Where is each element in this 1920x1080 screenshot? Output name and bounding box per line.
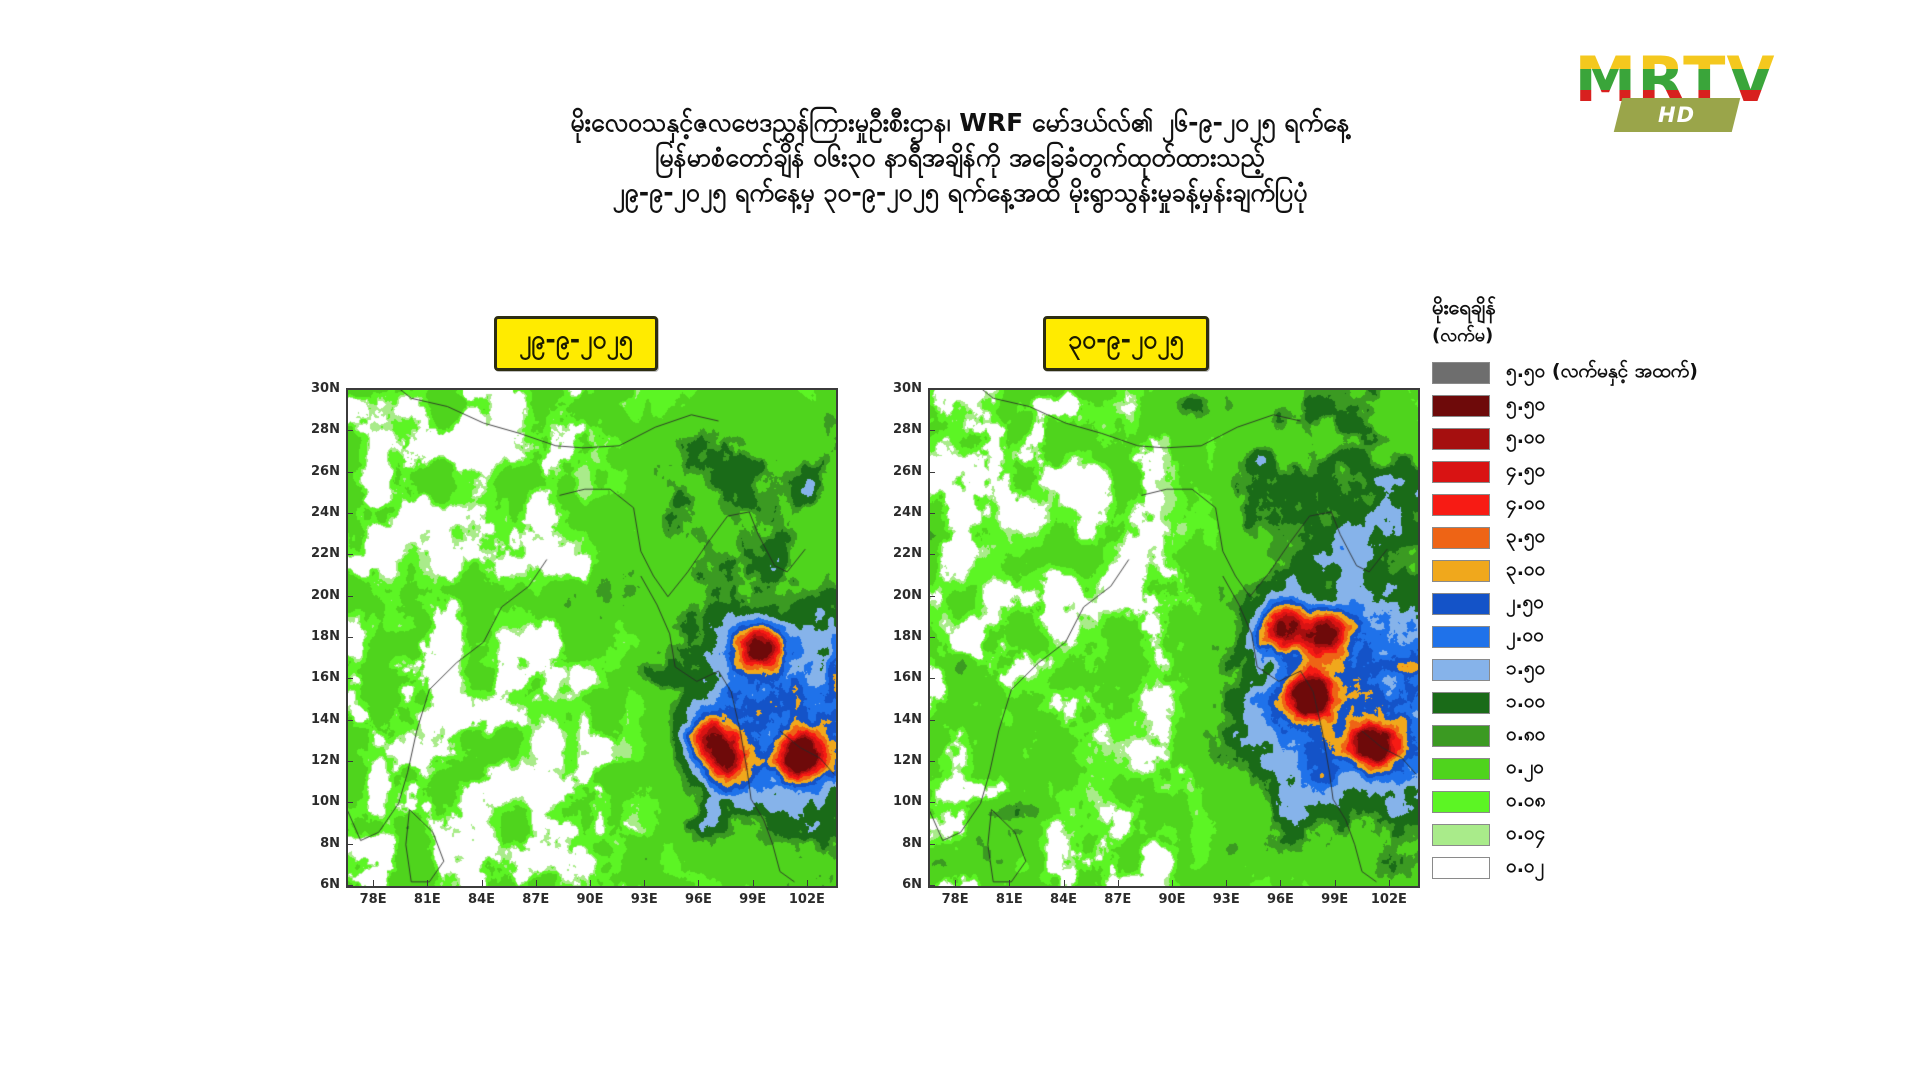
y-axis-tick: [929, 761, 935, 762]
y-axis-tick: [347, 596, 353, 597]
legend-item-label: ၄.၀၀: [1506, 491, 1545, 519]
y-axis-label: 8N: [306, 836, 340, 851]
x-axis-tick: [536, 880, 537, 886]
map-frame-left: [346, 388, 838, 888]
legend-unit: (လက်မ): [1432, 322, 1862, 350]
y-axis-tick: [347, 513, 353, 514]
legend-color-swatch: [1432, 494, 1490, 516]
legend-item-label: ၅.၅၀: [1506, 392, 1545, 420]
legend-item-label: ၄.၅၀: [1506, 458, 1545, 486]
y-axis-tick: [929, 554, 935, 555]
y-axis-label: 6N: [306, 877, 340, 892]
y-axis-label: 22N: [888, 546, 922, 561]
legend-color-swatch: [1432, 395, 1490, 417]
y-axis-tick: [929, 885, 935, 886]
legend-color-swatch: [1432, 758, 1490, 780]
x-axis-tick: [753, 880, 754, 886]
y-axis-label: 16N: [888, 670, 922, 685]
y-axis-label: 24N: [888, 505, 922, 520]
x-axis-label: 78E: [360, 892, 387, 907]
legend-color-swatch: [1432, 527, 1490, 549]
forecast-map-panel-left: 30N28N26N24N22N20N18N16N14N12N10N8N6N78E…: [318, 388, 838, 900]
y-axis-label: 10N: [888, 794, 922, 809]
y-axis-tick: [929, 596, 935, 597]
x-axis-label: 99E: [1321, 892, 1348, 907]
legend-item: ၁.၀၀: [1432, 686, 1862, 719]
legend-item-label: ၅.၀၀: [1506, 425, 1545, 453]
x-axis-tick: [1335, 880, 1336, 886]
legend-color-swatch: [1432, 428, 1490, 450]
y-axis-tick: [347, 761, 353, 762]
rainfall-heatmap-right: [930, 390, 1418, 886]
legend-item: ၃.၅၀: [1432, 521, 1862, 554]
y-axis-label: 12N: [888, 753, 922, 768]
x-axis-label: 99E: [739, 892, 766, 907]
x-axis-label: 102E: [789, 892, 825, 907]
legend-item-label: ၀.၀၂: [1506, 854, 1544, 882]
y-axis-tick: [929, 472, 935, 473]
legend-item-label: ၃.၀၀: [1506, 557, 1545, 585]
x-axis-tick: [373, 880, 374, 886]
legend-color-swatch: [1432, 362, 1490, 384]
legend-title: မိုးရေချိန်: [1432, 292, 1862, 322]
y-axis-tick: [347, 554, 353, 555]
x-axis-tick: [1226, 880, 1227, 886]
page-title: မိုးလေဝသနှင့်ဇလဗေဒညွှန်ကြားမှုဦးစီးဌာန၊ …: [0, 105, 1920, 210]
x-axis-label: 102E: [1371, 892, 1407, 907]
x-axis-label: 93E: [1213, 892, 1240, 907]
legend-item: ၅.၀၀: [1432, 422, 1862, 455]
page-title-line-2: မြန်မာစံတော်ချိန် ဝ၆း၃၀ နာရီအချိန်ကို အခ…: [0, 140, 1920, 175]
legend-item: ၄.၅၀: [1432, 455, 1862, 488]
y-axis-label: 6N: [888, 877, 922, 892]
legend-color-swatch: [1432, 626, 1490, 648]
x-axis-tick: [482, 880, 483, 886]
y-axis-label: 26N: [306, 464, 340, 479]
y-axis-label: 8N: [888, 836, 922, 851]
y-axis-label: 24N: [306, 505, 340, 520]
legend-color-swatch: [1432, 461, 1490, 483]
legend-item: ၀.၀၂: [1432, 851, 1862, 884]
legend-item: ၅.၅၀: [1432, 389, 1862, 422]
legend-color-swatch: [1432, 824, 1490, 846]
y-axis-tick: [347, 472, 353, 473]
legend-color-swatch: [1432, 659, 1490, 681]
y-axis-label: 18N: [306, 629, 340, 644]
y-axis-tick: [347, 678, 353, 679]
legend-color-swatch: [1432, 560, 1490, 582]
y-axis-tick: [929, 802, 935, 803]
date-badge-left: ၂၉-၉-၂၀၂၅: [494, 316, 658, 371]
x-axis-tick: [590, 880, 591, 886]
legend-item: ၀.၀၈: [1432, 785, 1862, 818]
y-axis-tick: [347, 720, 353, 721]
y-axis-label: 28N: [888, 422, 922, 437]
y-axis-label: 20N: [306, 588, 340, 603]
y-axis-tick: [347, 885, 353, 886]
legend-item: ၅.၅၀ (လက်မနှင့် အထက်): [1432, 356, 1862, 389]
y-axis-label: 14N: [888, 712, 922, 727]
page-title-line-1: မိုးလေဝသနှင့်ဇလဗေဒညွှန်ကြားမှုဦးစီးဌာန၊ …: [0, 105, 1920, 140]
legend-item: ၂.၀၀: [1432, 620, 1862, 653]
legend-item: ၀.၀၄: [1432, 818, 1862, 851]
x-axis-tick: [1172, 880, 1173, 886]
y-axis-label: 26N: [888, 464, 922, 479]
map-frame-right: [928, 388, 1420, 888]
x-axis-label: 78E: [942, 892, 969, 907]
y-axis-label: 10N: [306, 794, 340, 809]
y-axis-label: 14N: [306, 712, 340, 727]
x-axis-label: 87E: [522, 892, 549, 907]
y-axis-label: 30N: [888, 381, 922, 396]
y-axis-label: 30N: [306, 381, 340, 396]
legend-item-label: ၁.၅၀: [1506, 656, 1545, 684]
y-axis-tick: [929, 844, 935, 845]
legend-item-label: ၅.၅၀ (လက်မနှင့် အထက်): [1506, 359, 1698, 387]
x-axis-tick: [807, 880, 808, 886]
x-axis-tick: [955, 880, 956, 886]
y-axis-tick: [347, 389, 353, 390]
x-axis-tick: [1389, 880, 1390, 886]
forecast-map-panel-right: 30N28N26N24N22N20N18N16N14N12N10N8N6N78E…: [900, 388, 1420, 900]
legend-item-list: ၅.၅၀ (လက်မနှင့် အထက်)၅.၅၀၅.၀၀၄.၅၀၄.၀၀၃.၅…: [1432, 356, 1862, 884]
y-axis-label: 22N: [306, 546, 340, 561]
y-axis-tick: [929, 513, 935, 514]
legend-color-swatch: [1432, 692, 1490, 714]
legend-color-swatch: [1432, 791, 1490, 813]
y-axis-label: 16N: [306, 670, 340, 685]
x-axis-label: 96E: [685, 892, 712, 907]
y-axis-label: 12N: [306, 753, 340, 768]
date-badge-right: ၃၀-၉-၂၀၂၅: [1043, 316, 1209, 371]
x-axis-tick: [1064, 880, 1065, 886]
legend-item-label: ၀.၀၄: [1506, 821, 1545, 849]
x-axis-label: 81E: [996, 892, 1023, 907]
legend-item-label: ၂.၀၀: [1506, 623, 1544, 651]
legend-item: ၀.၈၀: [1432, 719, 1862, 752]
y-axis-tick: [929, 720, 935, 721]
x-axis-tick: [644, 880, 645, 886]
legend-color-swatch: [1432, 857, 1490, 879]
legend-item-label: ၂.၅၀: [1506, 590, 1544, 618]
y-axis-tick: [347, 844, 353, 845]
y-axis-tick: [347, 637, 353, 638]
rainfall-heatmap-left: [348, 390, 836, 886]
y-axis-tick: [347, 802, 353, 803]
y-axis-tick: [929, 637, 935, 638]
y-axis-tick: [929, 430, 935, 431]
legend-item: ၄.၀၀: [1432, 488, 1862, 521]
x-axis-tick: [1009, 880, 1010, 886]
y-axis-label: 20N: [888, 588, 922, 603]
legend-item: ၁.၅၀: [1432, 653, 1862, 686]
y-axis-label: 18N: [888, 629, 922, 644]
legend-item: ၃.၀၀: [1432, 554, 1862, 587]
y-axis-tick: [347, 430, 353, 431]
legend-item: ၀.၂၀: [1432, 752, 1862, 785]
legend-item-label: ၃.၅၀: [1506, 524, 1545, 552]
x-axis-label: 90E: [1159, 892, 1186, 907]
y-axis-tick: [929, 389, 935, 390]
x-axis-label: 84E: [468, 892, 495, 907]
x-axis-label: 87E: [1104, 892, 1131, 907]
x-axis-label: 93E: [631, 892, 658, 907]
legend-color-swatch: [1432, 593, 1490, 615]
rainfall-legend: မိုးရေချိန် (လက်မ) ၅.၅၀ (လက်မနှင့် အထက်)…: [1432, 292, 1862, 884]
x-axis-label: 96E: [1267, 892, 1294, 907]
legend-color-swatch: [1432, 725, 1490, 747]
legend-item-label: ၀.၂၀: [1506, 755, 1544, 783]
legend-item-label: ၁.၀၀: [1506, 689, 1545, 717]
legend-item: ၂.၅၀: [1432, 587, 1862, 620]
y-axis-tick: [929, 678, 935, 679]
x-axis-tick: [1118, 880, 1119, 886]
x-axis-label: 81E: [414, 892, 441, 907]
x-axis-tick: [1280, 880, 1281, 886]
x-axis-label: 90E: [577, 892, 604, 907]
legend-item-label: ၀.၀၈: [1506, 788, 1545, 816]
x-axis-label: 84E: [1050, 892, 1077, 907]
y-axis-label: 28N: [306, 422, 340, 437]
legend-item-label: ၀.၈၀: [1506, 722, 1545, 750]
page-title-line-3: ၂၉-၉-၂၀၂၅ ရက်နေ့မှ ၃၀-၉-၂၀၂၅ ရက်နေ့အထိ မ…: [0, 175, 1920, 210]
x-axis-tick: [698, 880, 699, 886]
x-axis-tick: [427, 880, 428, 886]
